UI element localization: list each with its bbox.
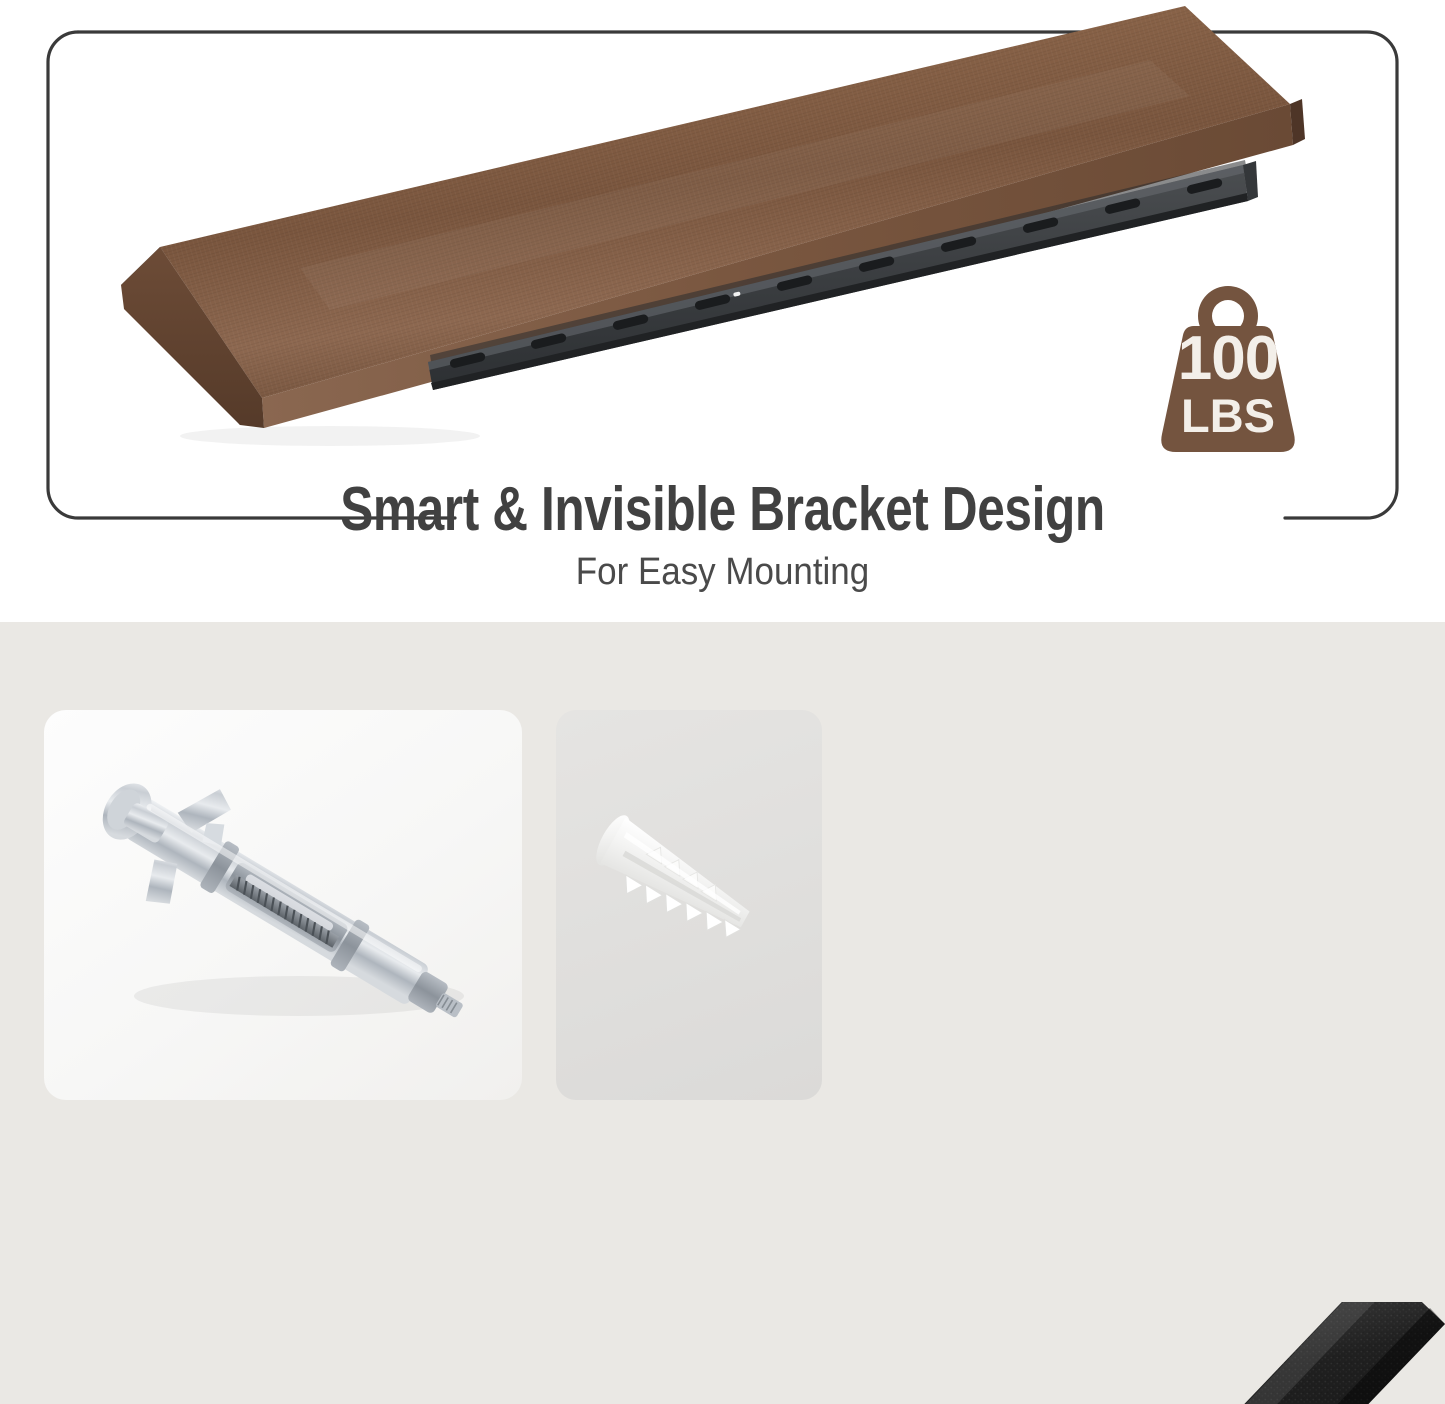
weight-unit: LBS xyxy=(1138,392,1318,439)
metal-anchor-panel xyxy=(44,710,522,1100)
bottom-section: Upgrade Metal Anchors heavy-duty xyxy=(0,622,1445,1404)
iron-pipe-photo xyxy=(820,1302,1445,1404)
product-feature-graphic: 100 LBS Smart & Invisible Bracket Design… xyxy=(0,0,1445,1404)
subheadline: For Easy Mounting xyxy=(58,550,1387,594)
metal-anchor-photo xyxy=(44,710,522,1100)
headline: Smart & Invisible Bracket Design xyxy=(145,479,1301,541)
weight-number: 100 xyxy=(1138,328,1318,390)
plastic-anchor-photo xyxy=(556,710,822,1100)
top-section: 100 LBS Smart & Invisible Bracket Design… xyxy=(0,0,1445,622)
plastic-anchor-panel xyxy=(556,710,822,1100)
weight-badge-text: 100 LBS xyxy=(1138,328,1318,439)
weight-capacity-badge: 100 LBS xyxy=(1138,282,1318,457)
